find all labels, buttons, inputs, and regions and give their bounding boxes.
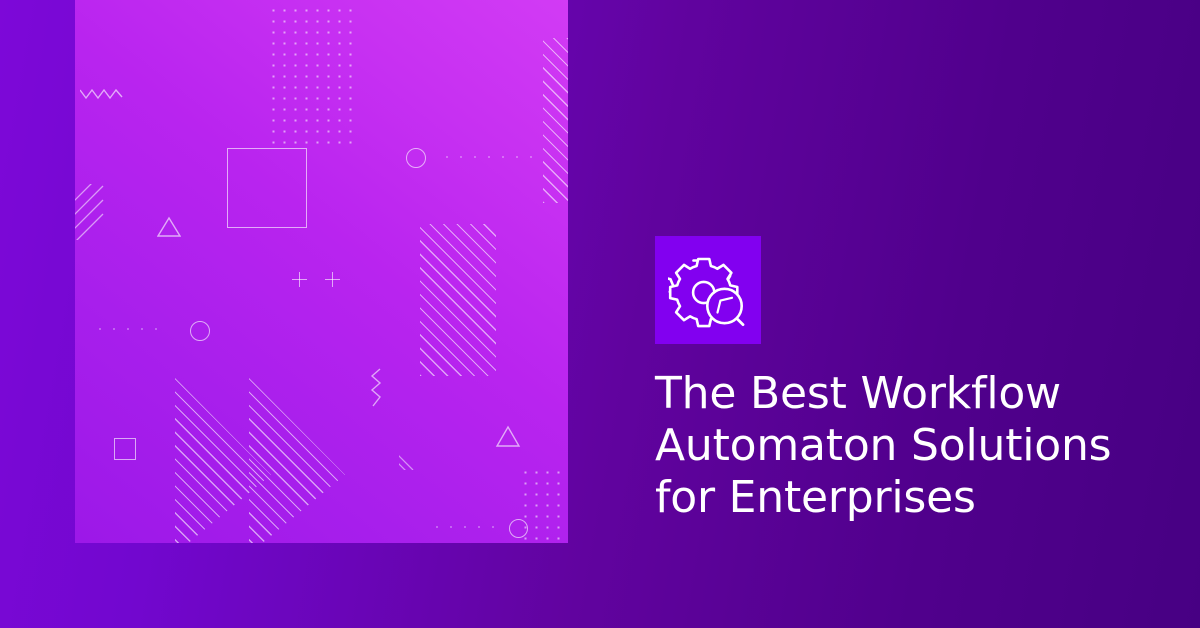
square-outline-icon [227, 148, 307, 228]
triangle-outline-small-icon [157, 216, 181, 238]
gear-search-icon-tile [655, 236, 761, 344]
dotted-line-bottom-icon [430, 525, 506, 529]
hatch-rectangle-center-icon [420, 224, 496, 376]
dotted-line-top-icon [440, 155, 540, 159]
zigzag-horizontal-icon [80, 86, 126, 102]
plus-mark-two-icon [325, 272, 340, 287]
plus-mark-one-icon [292, 272, 307, 287]
circle-ring-middle-icon [190, 321, 210, 341]
page-title-line-2: Automaton Solutions [655, 420, 1125, 472]
page-title: The Best Workflow Automaton Solutions fo… [655, 368, 1125, 524]
page-title-line-1: The Best Workflow [655, 368, 1125, 420]
dot-grid-top-icon [267, 4, 355, 144]
triangle-outline-bottom-icon [495, 425, 521, 448]
circle-ring-top-icon [406, 148, 426, 168]
square-outline-small-icon [114, 438, 136, 460]
circle-ring-bottom-icon [509, 519, 528, 538]
striped-chevron-second-icon [249, 378, 345, 543]
gear-search-icon [668, 250, 748, 330]
zigzag-vertical-icon [370, 368, 386, 410]
content-column: The Best Workflow Automaton Solutions fo… [655, 0, 1155, 628]
diagonal-lines-left-icon [75, 184, 105, 240]
decorative-graphic-panel [75, 0, 568, 543]
promo-banner: The Best Workflow Automaton Solutions fo… [0, 0, 1200, 628]
diagonal-lines-right-icon [399, 450, 415, 470]
dotted-line-middle-icon [93, 327, 165, 331]
page-title-line-3: for Enterprises [655, 472, 1125, 524]
hatch-stripe-right-icon [543, 38, 568, 203]
